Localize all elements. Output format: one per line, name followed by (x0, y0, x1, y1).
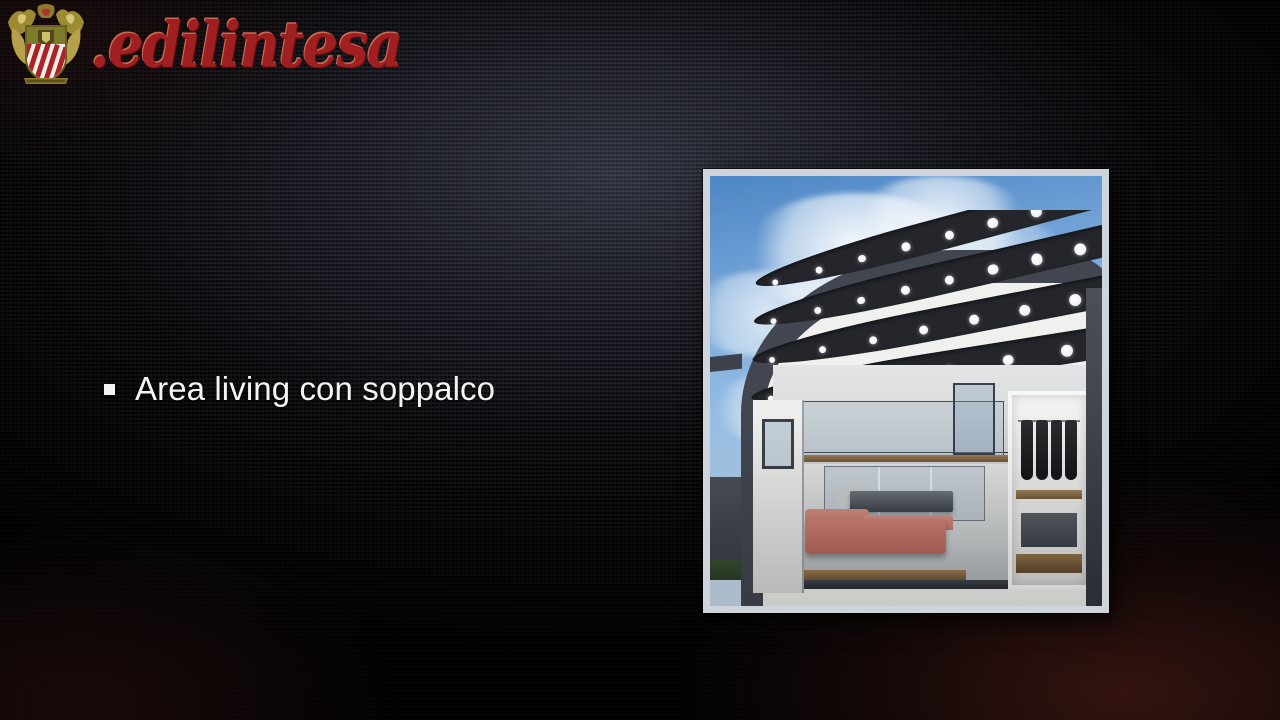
ceiling-spotlight (770, 318, 777, 325)
ceiling-spotlight (772, 279, 779, 286)
wardrobe-niche (1008, 391, 1090, 589)
bullet-item-label: Area living con soppalco (135, 368, 495, 410)
ceiling-spotlight (858, 254, 867, 263)
presentation-slide: .edilintesa Area living con soppalco (0, 0, 1280, 720)
hanging-coat (1036, 420, 1048, 481)
ceiling-spotlight (1061, 344, 1075, 358)
exterior-window (762, 419, 794, 469)
architectural-render-image (710, 176, 1102, 606)
ceiling-spotlight (1074, 242, 1089, 257)
ceiling-spotlight (987, 264, 999, 276)
hanging-coat (1021, 420, 1033, 481)
mezzanine-floor-slab (786, 455, 1011, 463)
wardrobe-drawer (1021, 513, 1078, 547)
left-exterior-wall (753, 400, 804, 594)
hanging-coat (1051, 420, 1063, 481)
brand-logo: .edilintesa (4, 2, 402, 88)
sectional-sofa (805, 519, 946, 554)
ceiling-spotlight (857, 296, 866, 305)
ceiling-spotlight (944, 230, 956, 242)
ceiling-spotlight (869, 335, 878, 344)
ceiling-spotlight (814, 307, 822, 315)
square-bullet-icon (104, 384, 115, 395)
coat-of-arms-icon (4, 2, 88, 88)
ceiling-spotlight (769, 356, 776, 363)
ceiling-spotlight (815, 267, 823, 275)
ceiling-spotlight (1030, 253, 1043, 266)
right-exterior-skin (1086, 288, 1102, 606)
brand-wordmark: .edilintesa (90, 14, 402, 77)
mezzanine-window (953, 383, 995, 455)
image-frame (703, 169, 1109, 613)
ceiling-spotlight (819, 346, 827, 354)
ceiling-spotlight (969, 314, 981, 326)
bullet-list: Area living con soppalco (104, 368, 495, 410)
ceiling-spotlight (1068, 293, 1082, 307)
ceiling-spotlight (900, 285, 910, 295)
ceiling-spotlight (901, 242, 912, 253)
ceiling-spotlight (1029, 210, 1043, 218)
wardrobe-shelf (1016, 490, 1081, 499)
ceiling-spotlight (919, 325, 930, 336)
wardrobe-floor (1016, 554, 1081, 573)
hanging-coat (1065, 420, 1077, 481)
ceiling-spotlight (987, 217, 1000, 230)
ceiling-spotlight (1018, 304, 1031, 317)
ceiling-spotlight (944, 275, 955, 286)
